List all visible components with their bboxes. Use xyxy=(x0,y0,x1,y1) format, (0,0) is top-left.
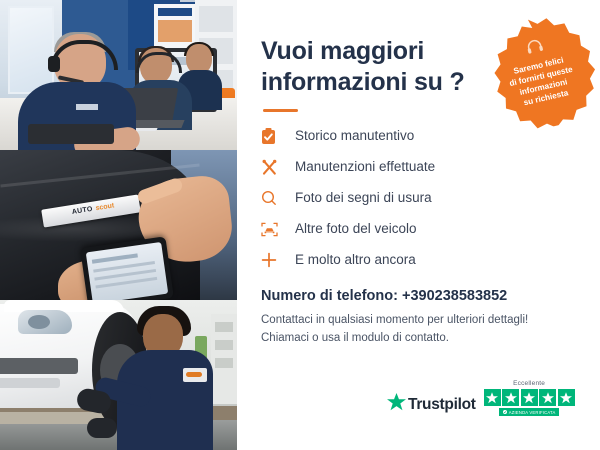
title-line-1: Vuoi maggiori xyxy=(261,37,424,65)
star-icon xyxy=(558,389,575,406)
phone-number[interactable]: +390238583852 xyxy=(402,288,507,304)
photo-call-centre xyxy=(0,0,237,150)
magnifier-icon xyxy=(261,188,285,208)
content-panel: Vuoi maggiori informazioni su ? Storico … xyxy=(237,0,600,450)
clipboard-check-icon xyxy=(261,126,285,146)
title-divider xyxy=(263,109,298,112)
callout-badge: Saremo felici di fornirti queste informa… xyxy=(473,5,600,139)
star-rating xyxy=(484,389,575,406)
list-item: E molto altro ancora xyxy=(261,250,578,270)
trustpilot-rating: Eccellente AZIENDA VERIFICATA xyxy=(484,380,575,416)
feature-label: Storico manutentivo xyxy=(295,129,414,143)
title-line-2: informazioni su ? xyxy=(261,68,465,96)
list-item: Manutenzioni effettuate xyxy=(261,157,578,177)
star-icon xyxy=(539,389,556,406)
wrench-cross-icon xyxy=(261,157,285,177)
photo-column: AUTOscout xyxy=(0,0,237,450)
photo-wheel-inspection xyxy=(0,300,237,450)
headset-icon xyxy=(524,38,544,59)
phone-line: Numero di telefono: +390238583852 xyxy=(261,288,578,304)
phone-label: Numero di telefono: xyxy=(261,288,402,304)
trustpilot-block[interactable]: Trustpilot Eccellente AZIENDA VERIFICATA xyxy=(387,380,575,416)
verified-label: AZIENDA VERIFICATA xyxy=(509,410,556,415)
photo-sticker-application: AUTOscout xyxy=(0,150,237,300)
rating-label: Eccellente xyxy=(513,380,545,387)
feature-label: E molto altro ancora xyxy=(295,253,416,267)
promo-card: AUTOscout Vuoi maggiori inform xyxy=(0,0,600,450)
star-icon xyxy=(521,389,538,406)
badge-text: Saremo felici di fornirti queste informa… xyxy=(473,5,600,139)
subtext-line-2: Chiamaci o usa il modulo di contatto. xyxy=(261,332,449,344)
trustpilot-wordmark: Trustpilot xyxy=(408,396,476,414)
feature-label: Foto dei segni di usura xyxy=(295,191,432,205)
plus-icon xyxy=(261,250,285,270)
star-icon xyxy=(484,389,501,406)
list-item: Foto dei segni di usura xyxy=(261,188,578,208)
list-item: Altre foto del veicolo xyxy=(261,219,578,239)
feature-label: Altre foto del veicolo xyxy=(295,222,417,236)
trustpilot-logo: Trustpilot xyxy=(387,393,476,416)
car-scan-icon xyxy=(261,219,285,239)
trustpilot-star-icon xyxy=(387,393,406,416)
verified-badge: AZIENDA VERIFICATA xyxy=(499,408,560,416)
feature-list: Storico manutentivo Manutenzioni effettu… xyxy=(261,126,578,270)
feature-label: Manutenzioni effettuate xyxy=(295,160,435,174)
star-icon xyxy=(502,389,519,406)
contact-subtext: Contattaci in qualsiasi momento per ulte… xyxy=(261,312,578,348)
check-circle-icon xyxy=(503,410,507,414)
subtext-line-1: Contattaci in qualsiasi momento per ulte… xyxy=(261,314,528,326)
